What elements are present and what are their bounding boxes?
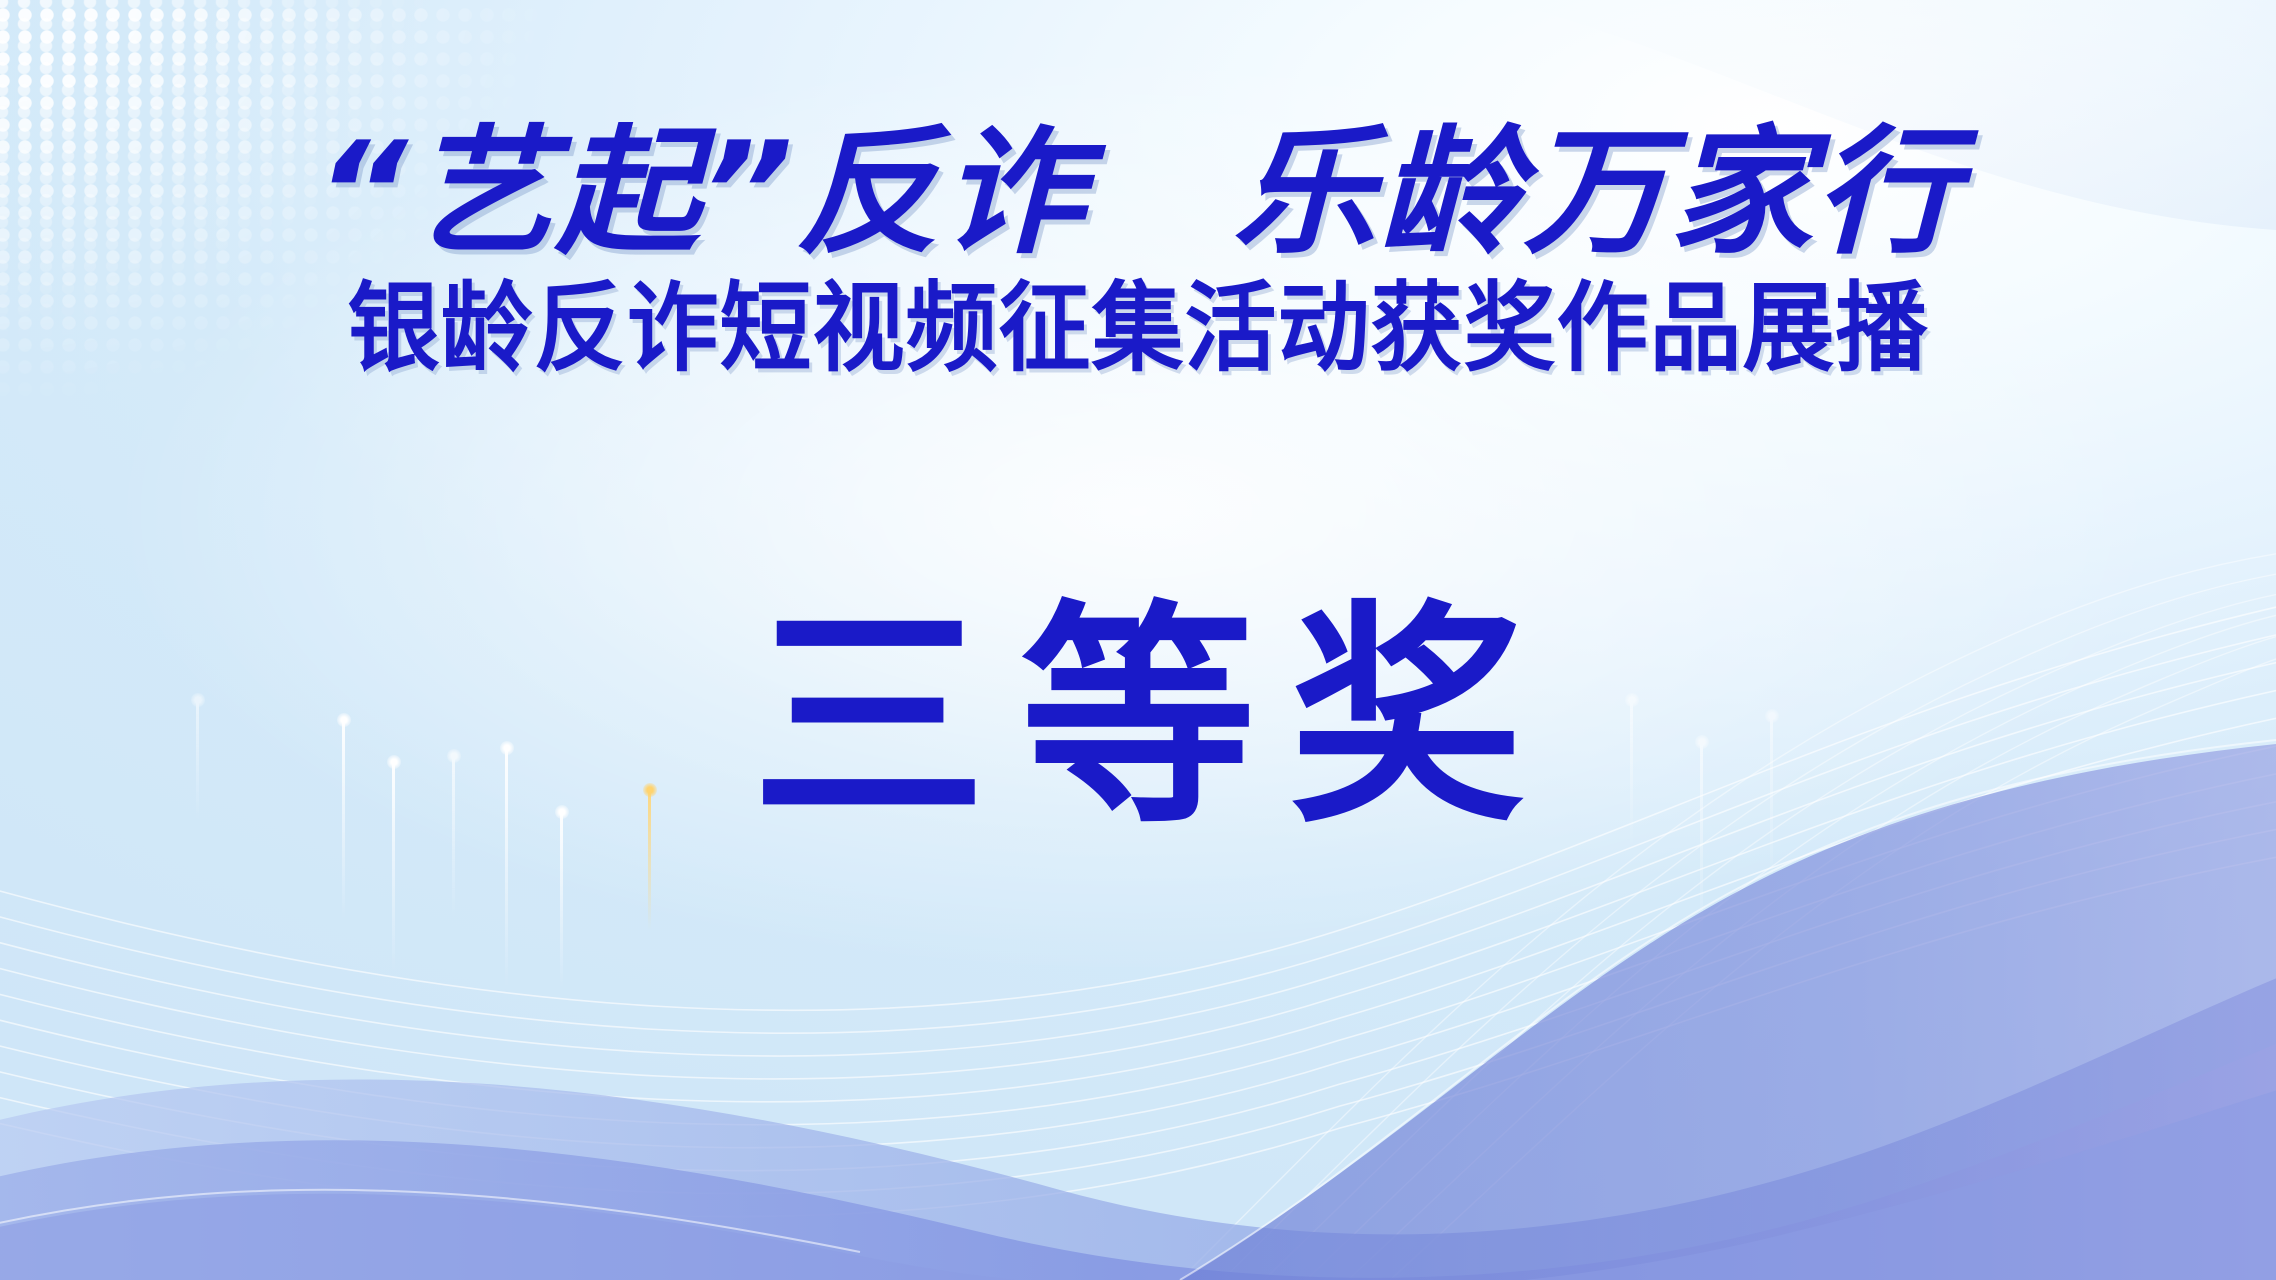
title-block: “艺起”反诈 乐龄万家行	[0, 118, 2276, 267]
poster-content: “艺起”反诈 乐龄万家行 银龄反诈短视频征集活动获奖作品展播 三等奖	[0, 0, 2276, 1280]
award-block: 三等奖	[0, 600, 2276, 835]
poster-canvas: “艺起”反诈 乐龄万家行 银龄反诈短视频征集活动获奖作品展播 三等奖	[0, 0, 2276, 1280]
page-subtitle: 银龄反诈短视频征集活动获奖作品展播	[347, 275, 1928, 382]
page-title: “艺起”反诈 乐龄万家行	[315, 118, 1960, 267]
award-label: 三等奖	[718, 600, 1559, 835]
subtitle-block: 银龄反诈短视频征集活动获奖作品展播	[0, 278, 2276, 379]
